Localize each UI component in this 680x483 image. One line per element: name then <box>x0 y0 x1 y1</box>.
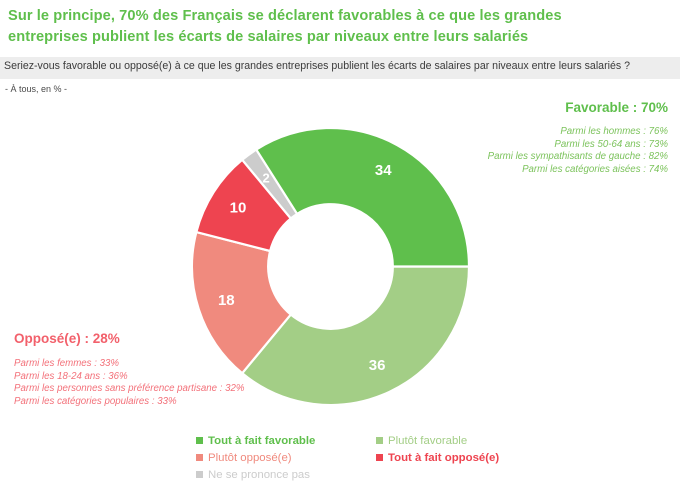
chart-legend: Tout à fait favorablePlutôt favorablePlu… <box>196 432 666 483</box>
legend-item[interactable]: Plutôt opposé(e) <box>196 449 376 466</box>
legend-swatch-icon <box>196 437 203 444</box>
survey-question: Seriez-vous favorable ou opposé(e) à ce … <box>4 60 630 72</box>
favorable-heading: Favorable : 70% <box>488 100 668 115</box>
legend-item-label: Tout à fait favorable <box>208 435 315 447</box>
donut-slice[interactable] <box>256 128 469 267</box>
legend-item-label: Ne se prononce pas <box>208 469 310 481</box>
legend-item[interactable]: Ne se prononce pas <box>196 466 376 483</box>
slice-value-label: 34 <box>375 162 392 179</box>
title-line-2: entreprises publient les écarts de salai… <box>8 27 672 48</box>
legend-item[interactable]: Plutôt favorable <box>376 432 576 449</box>
slice-value-label: 2 <box>262 170 269 185</box>
favorable-breakdown-list: Parmi les hommes : 76% Parmi les 50-64 a… <box>488 126 668 176</box>
legend-swatch-icon <box>376 454 383 461</box>
legend-swatch-icon <box>196 471 203 478</box>
slice-value-label: 18 <box>218 292 235 309</box>
legend-item-label: Plutôt opposé(e) <box>208 452 292 464</box>
survey-basis: - À tous, en % - <box>5 84 67 94</box>
legend-swatch-icon <box>376 437 383 444</box>
title-line-1: Sur le principe, 70% des Français se déc… <box>8 6 672 27</box>
favorable-annotation: Favorable : 70% Parmi les hommes : 76% P… <box>488 100 668 176</box>
donut-chart-svg: 361810234 <box>192 128 469 405</box>
slice-value-label: 36 <box>369 357 386 374</box>
list-item: Parmi les 50-64 ans : 73% <box>488 139 668 152</box>
legend-item-label: Plutôt favorable <box>388 435 467 447</box>
legend-item[interactable]: Tout à fait favorable <box>196 432 376 449</box>
legend-item-label: Tout à fait opposé(e) <box>388 452 499 464</box>
donut-slice[interactable] <box>242 267 469 405</box>
infographic-root: Sur le principe, 70% des Français se déc… <box>0 0 680 480</box>
list-item: Parmi les sympathisants de gauche : 82% <box>488 151 668 164</box>
legend-swatch-icon <box>196 454 203 461</box>
list-item: Parmi les catégories aisées : 74% <box>488 164 668 177</box>
list-item: Parmi les hommes : 76% <box>488 126 668 139</box>
donut-chart: 361810234 <box>192 128 469 405</box>
page-title: Sur le principe, 70% des Français se déc… <box>8 6 672 48</box>
slice-value-label: 10 <box>230 199 247 216</box>
legend-item[interactable]: Tout à fait opposé(e) <box>376 449 576 466</box>
